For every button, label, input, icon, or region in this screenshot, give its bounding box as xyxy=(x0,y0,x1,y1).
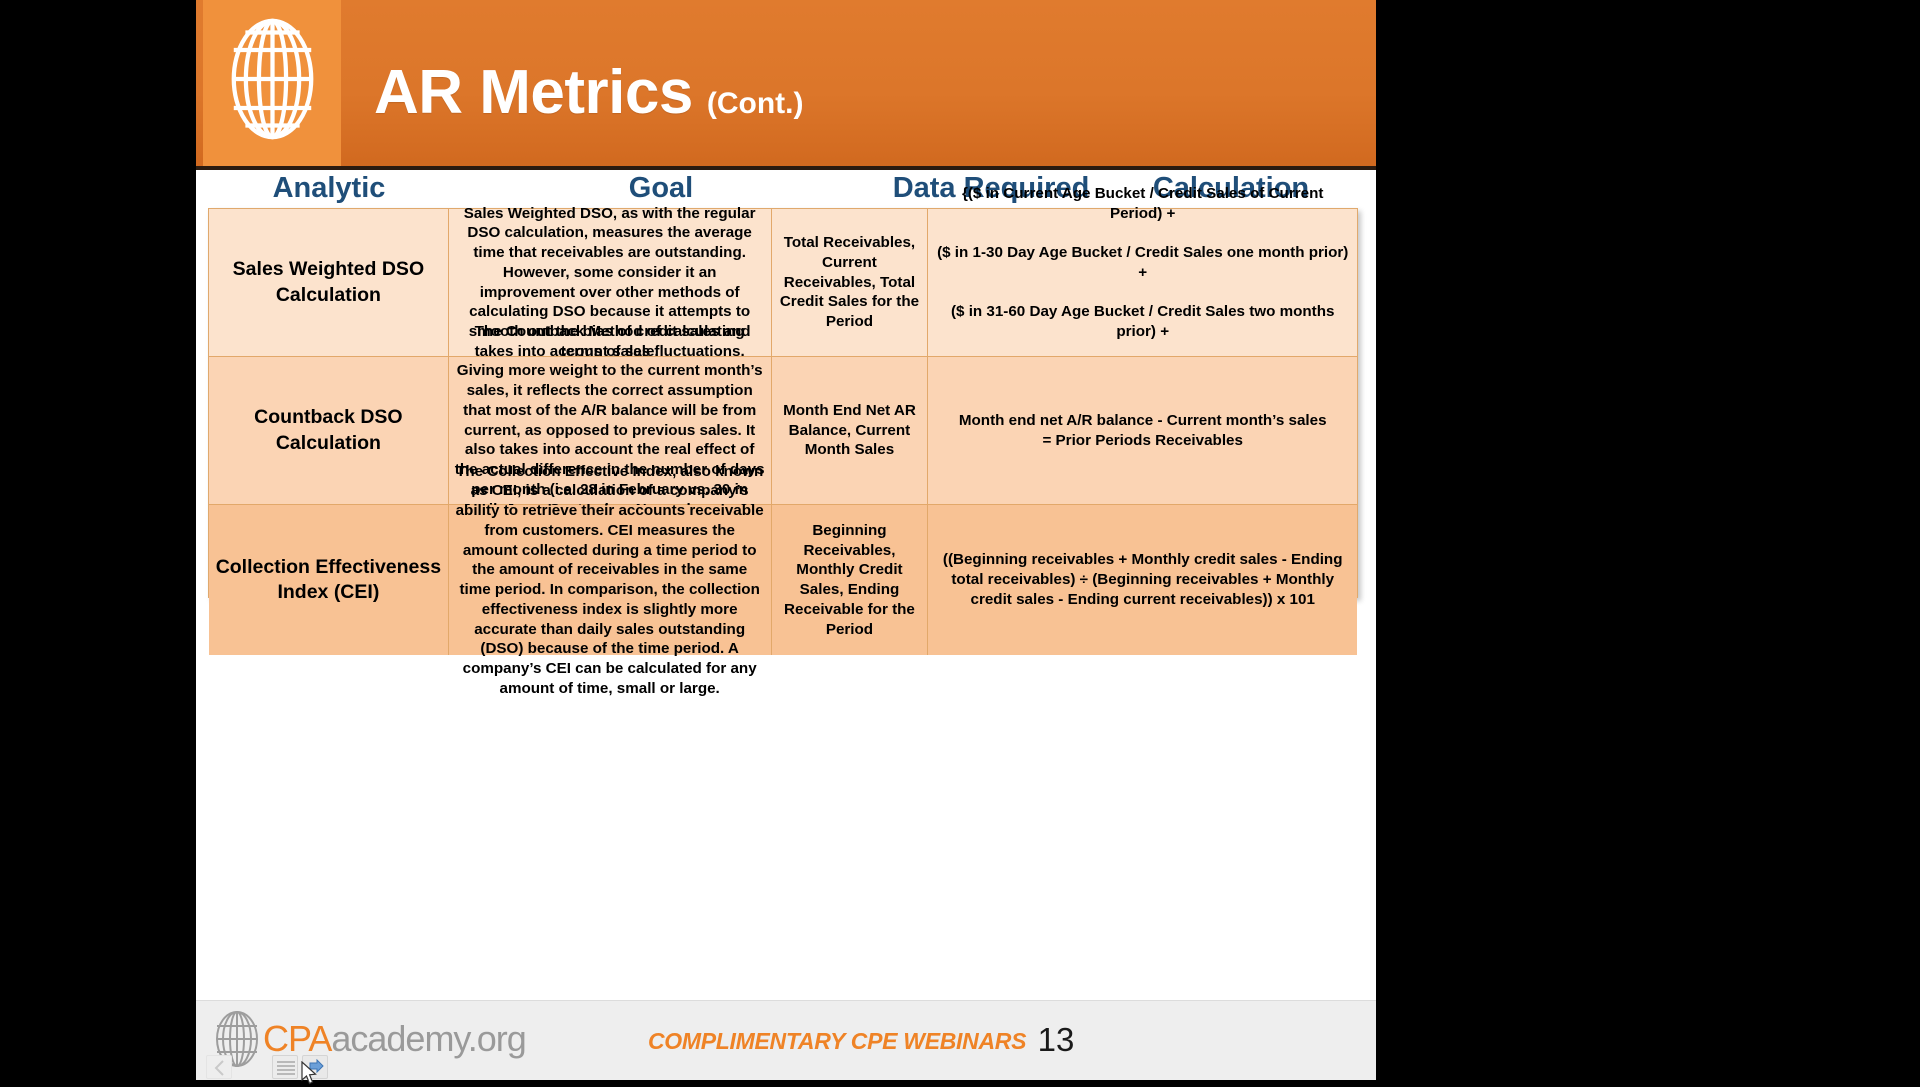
slide-canvas: AR Metrics (Cont.) Analytic Goal Data Re… xyxy=(196,0,1376,1080)
slide-controls xyxy=(206,1053,346,1081)
column-header-analytic: Analytic xyxy=(214,172,444,205)
brand-rest: academy.org xyxy=(331,1018,525,1059)
table-row: Countback DSO Calculation The Countback … xyxy=(209,357,1357,505)
mouse-cursor-icon xyxy=(301,1061,319,1087)
cell-data-required: Month End Net AR Balance, Current Month … xyxy=(772,357,929,504)
page-title-suffix: (Cont.) xyxy=(707,89,804,124)
previous-slide-button[interactable] xyxy=(206,1055,232,1079)
ar-metrics-table: Sales Weighted DSO Calculation Sales Wei… xyxy=(208,208,1358,598)
table-row: Collection Effectiveness Index (CEI) The… xyxy=(209,505,1357,655)
letterbox-right xyxy=(1376,0,1920,1080)
cell-calculation: Month end net A/R balance - Current mont… xyxy=(928,357,1357,504)
calculation-text: ((Beginning receivables + Monthly credit… xyxy=(934,550,1351,609)
cell-analytic: Collection Effectiveness Index (CEI) xyxy=(209,505,449,655)
header-title-group: AR Metrics (Cont.) xyxy=(374,38,804,124)
page-number: 13 xyxy=(1016,1021,1096,1059)
list-icon xyxy=(277,1061,295,1075)
cell-analytic: Sales Weighted DSO Calculation xyxy=(209,209,449,356)
slide-footer: CPAacademy.org COMPLIMENTARY CPE WEBINAR… xyxy=(196,1000,1376,1080)
header-bottom-rule xyxy=(196,166,1376,170)
cell-data-required: Total Receivables, Current Receivables, … xyxy=(772,209,929,356)
calculation-text: Month end net A/R balance - Current mont… xyxy=(959,411,1327,451)
slide-list-button[interactable] xyxy=(272,1055,298,1079)
letterbox-left xyxy=(0,0,196,1080)
cell-analytic: Countback DSO Calculation xyxy=(209,357,449,504)
header-logo-tile xyxy=(203,0,341,168)
cell-goal: The Collection Effective Index, also kno… xyxy=(449,505,772,655)
footer-tagline: COMPLIMENTARY CPE WEBINARS xyxy=(648,1028,978,1055)
chevron-left-icon xyxy=(212,1059,228,1077)
table-row: Sales Weighted DSO Calculation Sales Wei… xyxy=(209,209,1357,357)
globe-icon xyxy=(224,18,321,140)
cell-calculation: ((Beginning receivables + Monthly credit… xyxy=(928,505,1357,655)
screen: AR Metrics (Cont.) Analytic Goal Data Re… xyxy=(0,0,1920,1080)
slide-header: AR Metrics (Cont.) xyxy=(196,0,1376,168)
cell-data-required: Beginning Receivables, Monthly Credit Sa… xyxy=(772,505,929,655)
column-header-goal: Goal xyxy=(451,172,871,205)
page-title: AR Metrics xyxy=(374,62,693,124)
calculation-text: {($ in Current Age Bucket / Credit Sales… xyxy=(934,184,1351,382)
cell-calculation: {($ in Current Age Bucket / Credit Sales… xyxy=(928,209,1357,356)
